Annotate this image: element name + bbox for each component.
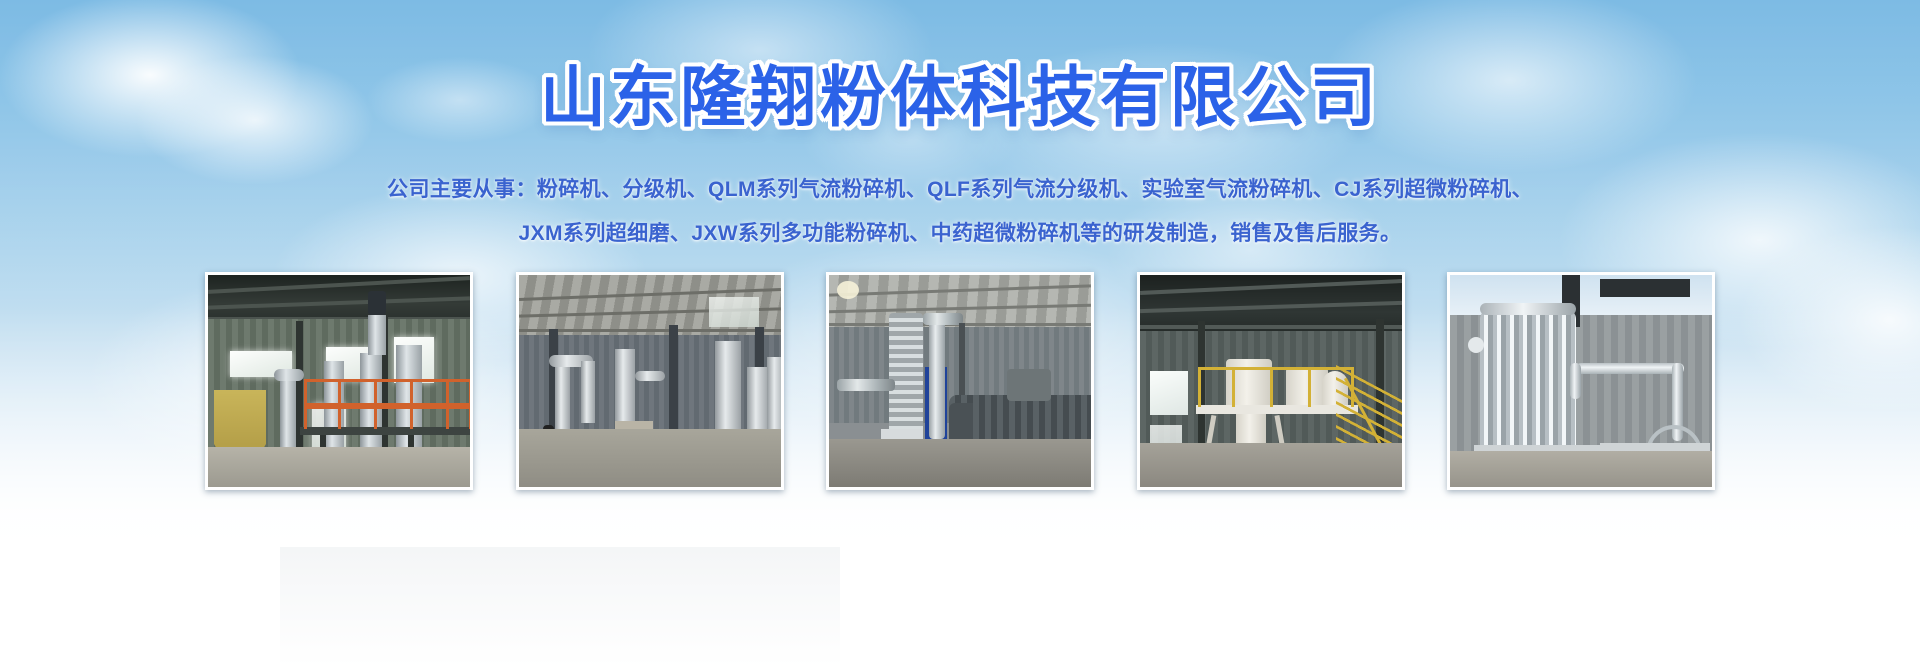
factory-floor (208, 447, 470, 487)
pipe-elbow (923, 313, 963, 325)
product-photo-5[interactable] (1447, 272, 1715, 490)
factory-floor (1450, 451, 1712, 487)
window (1150, 371, 1188, 415)
subtitle-line-1: 公司主要从事：粉碎机、分级机、QLM系列气流粉碎机、QLF系列气流分级机、实验室… (0, 168, 1920, 212)
bottom-fade-decoration (280, 547, 840, 667)
vessel-lid (1480, 303, 1576, 315)
stainless-vessel (1480, 309, 1576, 449)
factory-floor (1140, 443, 1402, 487)
product-photo-4[interactable] (1137, 272, 1405, 490)
column (669, 325, 678, 445)
factory-floor (829, 439, 1091, 487)
photo-2-scene (519, 275, 781, 487)
motor (368, 291, 386, 315)
factory-floor (519, 429, 781, 487)
subtitle-container: 公司主要从事：粉碎机、分级机、QLM系列气流粉碎机、QLF系列气流分级机、实验室… (0, 168, 1920, 256)
product-photo-3[interactable] (826, 272, 1094, 490)
roof-beam (1140, 325, 1402, 329)
railing-post (338, 379, 341, 429)
railing-post (1270, 367, 1273, 407)
vertical-pipe (581, 361, 595, 423)
horizontal-pipe (837, 379, 895, 391)
pipe-elbow (274, 369, 304, 381)
gearbox (1007, 369, 1051, 401)
photo-4-scene (1140, 275, 1402, 487)
company-banner: 山东隆翔粉体科技有限公司 公司主要从事：粉碎机、分级机、QLM系列气流粉碎机、Q… (0, 0, 1920, 667)
title-container: 山东隆翔粉体科技有限公司 (0, 62, 1920, 133)
railing-post (410, 379, 413, 429)
railing-post (374, 379, 377, 429)
vessel-handwheel (1468, 337, 1484, 353)
vertical-pipe (929, 319, 945, 439)
pipe-run (635, 371, 665, 381)
photo-5-scene (1450, 275, 1712, 487)
yellow-hopper (214, 390, 266, 444)
window (709, 297, 759, 327)
dark-eave (1600, 279, 1690, 297)
photo-3-scene (829, 275, 1091, 487)
ceiling-lamp-icon (837, 281, 859, 299)
product-photo-2[interactable] (516, 272, 784, 490)
motor-shaft (368, 315, 386, 355)
roof-truss (519, 329, 781, 332)
horizontal-pipe (1576, 363, 1684, 374)
subtitle-line-2: JXM系列超细磨、JXW系列多功能粉碎机、中药超微粉碎机等的研发制造，销售及售后… (0, 212, 1920, 256)
railing-post (1232, 367, 1235, 407)
railing-post (446, 379, 449, 429)
yellow-railing (1198, 367, 1354, 407)
product-photo-strip (205, 272, 1715, 490)
page-title: 山东隆翔粉体科技有限公司 (540, 62, 1380, 133)
vertical-pipe (1570, 363, 1581, 399)
product-photo-1[interactable] (205, 272, 473, 490)
photo-1-scene (208, 275, 470, 487)
railing-post (1308, 367, 1311, 407)
finned-duct (889, 313, 923, 443)
